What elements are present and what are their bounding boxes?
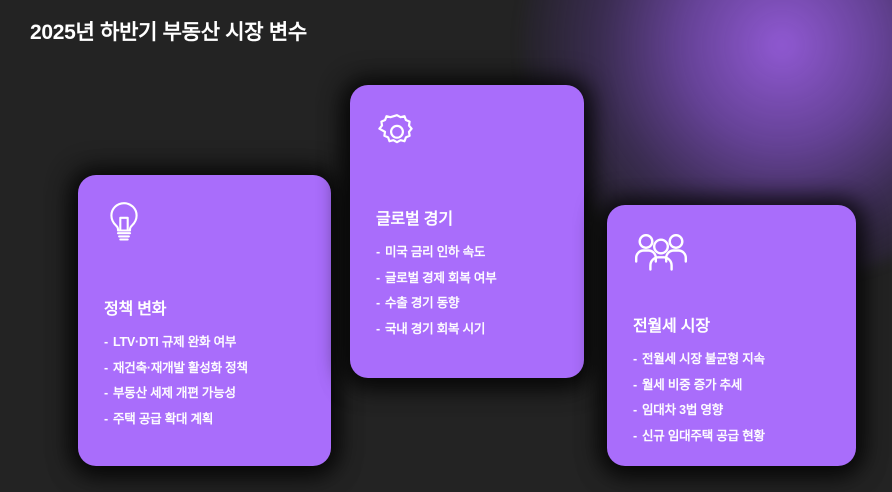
people-group-icon: [633, 229, 830, 275]
card-item-list: -미국 금리 인하 속도 -글로벌 경제 회복 여부 -수출 경기 동향 -국내…: [376, 246, 558, 335]
list-item-label: 임대차 3법 영향: [642, 404, 723, 417]
list-item-label: 재건축·재개발 활성화 정책: [113, 362, 248, 375]
list-item-label: 글로벌 경제 회복 여부: [385, 272, 497, 285]
bullet-dash: -: [633, 404, 637, 417]
list-item: -재건축·재개발 활성화 정책: [104, 362, 305, 375]
list-item: -글로벌 경제 회복 여부: [376, 272, 558, 285]
list-item-label: 국내 경기 회복 시기: [385, 323, 485, 336]
list-item-label: 신규 임대주택 공급 현황: [642, 430, 765, 443]
card-item-list: -LTV·DTI 규제 완화 여부 -재건축·재개발 활성화 정책 -부동산 세…: [104, 336, 305, 425]
bullet-dash: -: [104, 336, 108, 349]
list-item-label: 부동산 세제 개편 가능성: [113, 387, 236, 400]
card-title: 전월세 시장: [633, 312, 830, 336]
list-item: -미국 금리 인하 속도: [376, 246, 558, 259]
bullet-dash: -: [376, 272, 380, 285]
card-policy-change[interactable]: 정책 변화 -LTV·DTI 규제 완화 여부 -재건축·재개발 활성화 정책 …: [78, 175, 331, 466]
bullet-dash: -: [104, 413, 108, 426]
card-spacer: [376, 161, 558, 205]
lightbulb-icon: [104, 199, 305, 245]
card-rental-market[interactable]: 전월세 시장 -전월세 시장 불균형 지속 -월세 비중 증가 추세 -임대차 …: [607, 205, 856, 466]
list-item: -신규 임대주택 공급 현황: [633, 430, 830, 443]
list-item: -주택 공급 확대 계획: [104, 413, 305, 426]
list-item: -월세 비중 증가 추세: [633, 379, 830, 392]
list-item: -국내 경기 회복 시기: [376, 323, 558, 336]
list-item: -전월세 시장 불균형 지속: [633, 353, 830, 366]
list-item-label: 전월세 시장 불균형 지속: [642, 353, 765, 366]
list-item-label: 수출 경기 동향: [385, 297, 459, 310]
list-item-label: LTV·DTI 규제 완화 여부: [113, 336, 236, 349]
bullet-dash: -: [376, 297, 380, 310]
bullet-dash: -: [104, 362, 108, 375]
card-spacer: [633, 281, 830, 312]
gear-icon: [376, 109, 558, 155]
card-title: 정책 변화: [104, 295, 305, 319]
bullet-dash: -: [633, 379, 637, 392]
bullet-dash: -: [376, 323, 380, 336]
bullet-dash: -: [633, 353, 637, 366]
list-item-label: 미국 금리 인하 속도: [385, 246, 485, 259]
card-title: 글로벌 경기: [376, 205, 558, 229]
list-item-label: 월세 비중 증가 추세: [642, 379, 742, 392]
card-global-economy[interactable]: 글로벌 경기 -미국 금리 인하 속도 -글로벌 경제 회복 여부 -수출 경기…: [350, 85, 584, 378]
bullet-dash: -: [104, 387, 108, 400]
card-item-list: -전월세 시장 불균형 지속 -월세 비중 증가 추세 -임대차 3법 영향 -…: [633, 353, 830, 442]
bullet-dash: -: [376, 246, 380, 259]
list-item: -수출 경기 동향: [376, 297, 558, 310]
list-item: -임대차 3법 영향: [633, 404, 830, 417]
card-spacer: [104, 251, 305, 295]
list-item: -LTV·DTI 규제 완화 여부: [104, 336, 305, 349]
bullet-dash: -: [633, 430, 637, 443]
list-item-label: 주택 공급 확대 계획: [113, 413, 213, 426]
list-item: -부동산 세제 개편 가능성: [104, 387, 305, 400]
page-title: 2025년 하반기 부동산 시장 변수: [30, 16, 307, 46]
